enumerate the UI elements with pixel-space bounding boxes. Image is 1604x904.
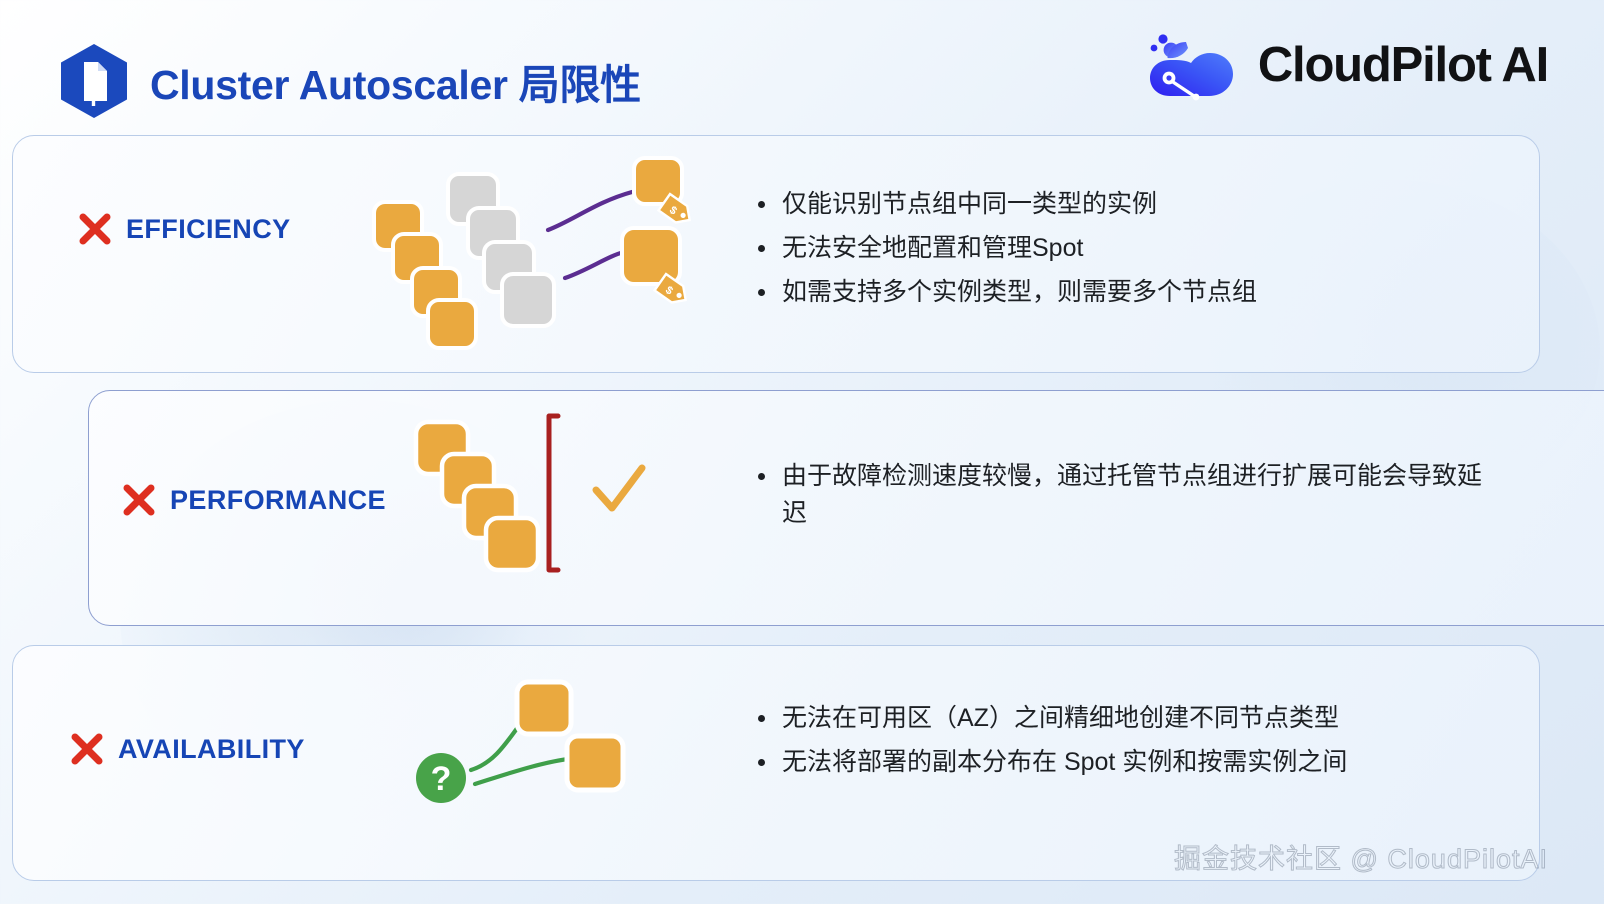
bullet-text: 由于故障检测速度较慢，通过托管节点组进行扩展可能会导致延迟 bbox=[782, 458, 1488, 532]
bullet-dot-icon bbox=[758, 289, 765, 296]
card-label-text: AVAILABILITY bbox=[118, 734, 305, 765]
card-label-text: EFFICIENCY bbox=[126, 214, 291, 245]
document-upload-hexagon-icon bbox=[58, 42, 130, 120]
red-x-icon bbox=[122, 483, 156, 517]
brand-name: CloudPilot AI bbox=[1258, 37, 1548, 93]
bullet-item: 由于故障检测速度较慢，通过托管节点组进行扩展可能会导致延迟 bbox=[758, 458, 1488, 532]
bullet-item: 如需支持多个实例类型，则需要多个节点组 bbox=[758, 274, 1518, 311]
illustration-efficiency: $ $ bbox=[360, 140, 710, 360]
illustration-availability: ? bbox=[405, 650, 655, 815]
bullet-item: 仅能识别节点组中同一类型的实例 bbox=[758, 186, 1518, 223]
bullet-item: 无法将部署的副本分布在 Spot 实例和按需实例之间 bbox=[758, 744, 1498, 781]
bullet-dot-icon bbox=[758, 245, 765, 252]
brand-block: CloudPilot AI bbox=[1146, 26, 1548, 104]
bullet-text: 仅能识别节点组中同一类型的实例 bbox=[782, 186, 1518, 223]
bullet-item: 无法在可用区（AZ）之间精细地创建不同节点类型 bbox=[758, 700, 1498, 737]
bullet-text: 无法将部署的副本分布在 Spot 实例和按需实例之间 bbox=[782, 744, 1498, 781]
bullet-text: 无法在可用区（AZ）之间精细地创建不同节点类型 bbox=[782, 700, 1498, 737]
title-block: Cluster Autoscaler 局限性 bbox=[58, 42, 641, 120]
bullet-list-efficiency: 仅能识别节点组中同一类型的实例 无法安全地配置和管理Spot 如需支持多个实例类… bbox=[758, 186, 1518, 318]
bullet-text: 如需支持多个实例类型，则需要多个节点组 bbox=[782, 274, 1518, 311]
red-x-icon bbox=[78, 212, 112, 246]
page-header: Cluster Autoscaler 局限性 bbox=[0, 0, 1604, 130]
bullet-list-performance: 由于故障检测速度较慢，通过托管节点组进行扩展可能会导致延迟 bbox=[758, 458, 1488, 539]
bullet-item: 无法安全地配置和管理Spot bbox=[758, 230, 1518, 267]
bullet-dot-icon bbox=[758, 759, 765, 766]
bullet-dot-icon bbox=[758, 201, 765, 208]
bullet-list-availability: 无法在可用区（AZ）之间精细地创建不同节点类型 无法将部署的副本分布在 Spot… bbox=[758, 700, 1498, 788]
card-label-efficiency: EFFICIENCY bbox=[78, 212, 291, 246]
card-label-performance: PERFORMANCE bbox=[122, 483, 386, 517]
bullet-dot-icon bbox=[758, 473, 765, 480]
card-label-text: PERFORMANCE bbox=[170, 485, 386, 516]
red-x-icon bbox=[70, 732, 104, 766]
card-label-availability: AVAILABILITY bbox=[70, 732, 305, 766]
cloudpilot-cloud-logo bbox=[1146, 26, 1246, 104]
bullet-dot-icon bbox=[758, 715, 765, 722]
bullet-text: 无法安全地配置和管理Spot bbox=[782, 230, 1518, 267]
page-title: Cluster Autoscaler 局限性 bbox=[150, 51, 641, 111]
illustration-performance bbox=[400, 410, 670, 600]
svg-text:?: ? bbox=[431, 760, 452, 798]
question-badge-icon: ? bbox=[416, 753, 466, 803]
